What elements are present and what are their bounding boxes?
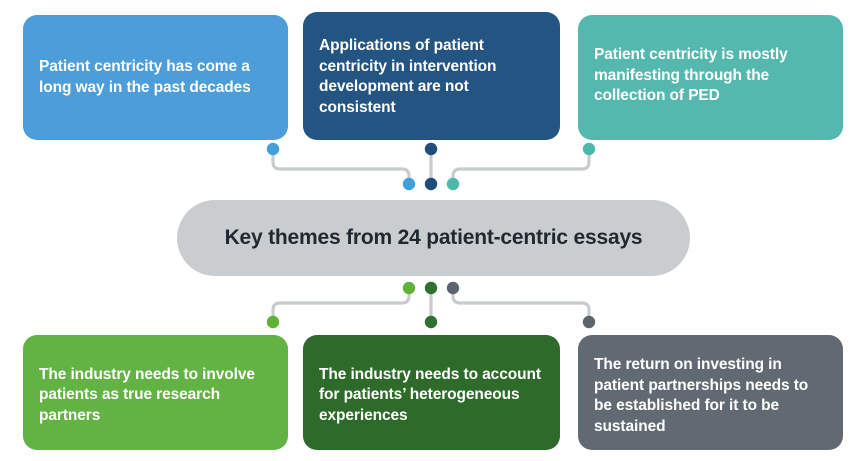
connector-dot-bottom-left-lower bbox=[267, 316, 279, 328]
node-bottom-right-label: The return on investing in patient partn… bbox=[594, 355, 827, 437]
connector-dot-top-left-lower bbox=[403, 178, 415, 190]
connector-dot-top-middle-upper bbox=[425, 143, 437, 155]
node-bottom-left[interactable]: The industry needs to involve patients a… bbox=[23, 335, 288, 450]
node-top-left[interactable]: Patient centricity has come a long way i… bbox=[23, 15, 288, 140]
node-top-left-label: Patient centricity has come a long way i… bbox=[39, 57, 272, 98]
connector-dot-top-right-lower bbox=[447, 178, 459, 190]
node-bottom-right[interactable]: The return on investing in patient partn… bbox=[578, 335, 843, 450]
connector-dot-bottom-left-upper bbox=[403, 282, 415, 294]
connector-dot-bottom-middle-lower bbox=[425, 316, 437, 328]
node-center-title[interactable]: Key themes from 24 patient-centric essay… bbox=[177, 200, 690, 276]
diagram-canvas: Patient centricity has come a long way i… bbox=[0, 0, 864, 461]
connector-dot-bottom-right-lower bbox=[583, 316, 595, 328]
node-top-right[interactable]: Patient centricity is mostly manifesting… bbox=[578, 15, 843, 140]
connector-dot-top-right-upper bbox=[583, 143, 595, 155]
node-top-middle-label: Applications of patient centricity in in… bbox=[319, 36, 544, 118]
connector-dot-bottom-middle-upper bbox=[425, 282, 437, 294]
connector-dot-top-left-upper bbox=[267, 143, 279, 155]
node-bottom-middle-label: The industry needs to account for patien… bbox=[319, 365, 544, 427]
connector-dot-bottom-right-upper bbox=[447, 282, 459, 294]
node-top-right-label: Patient centricity is mostly manifesting… bbox=[594, 45, 827, 107]
connector-path-bottom-left bbox=[273, 288, 409, 322]
node-center-title-label: Key themes from 24 patient-centric essay… bbox=[225, 224, 643, 251]
connector-dot-top-middle-lower bbox=[425, 178, 437, 190]
connector-path-bottom-right bbox=[453, 288, 589, 322]
node-bottom-left-label: The industry needs to involve patients a… bbox=[39, 365, 272, 427]
connector-path-top-right bbox=[453, 149, 589, 184]
node-top-middle[interactable]: Applications of patient centricity in in… bbox=[303, 12, 560, 140]
node-bottom-middle[interactable]: The industry needs to account for patien… bbox=[303, 335, 560, 450]
connector-path-top-left bbox=[273, 149, 409, 184]
